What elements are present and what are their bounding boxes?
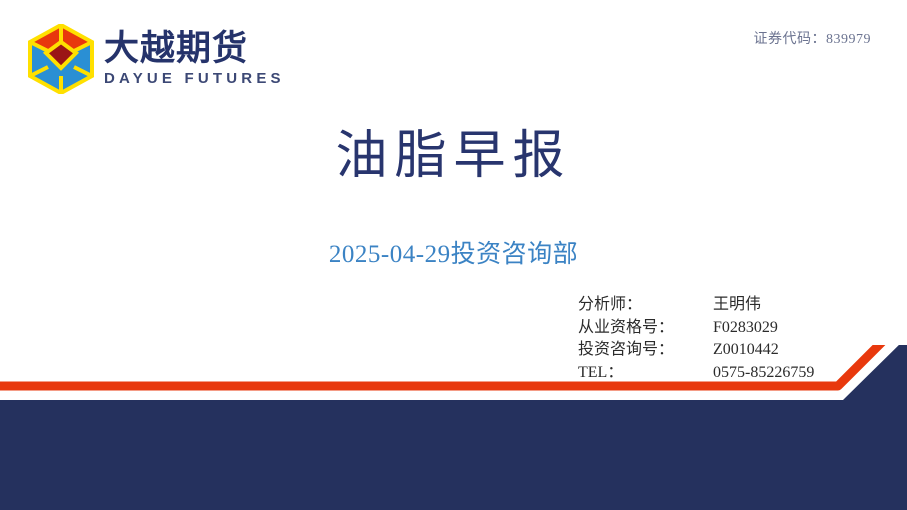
slide-cover: 大越期货 DAYUE FUTURES 证券代码：839979 油脂早报 2025… — [0, 0, 907, 510]
logo-english-name: DAYUE FUTURES — [104, 70, 285, 87]
analyst-name-label: 分析师： — [578, 294, 713, 317]
company-logo: 大越期货 DAYUE FUTURES — [28, 24, 285, 94]
page-subtitle: 2025-04-29投资咨询部 — [0, 240, 907, 270]
logo-wordmark: 大越期货 DAYUE FUTURES — [104, 31, 285, 87]
qualification-number-label: 从业资格号： — [578, 317, 713, 340]
footer-navy-band — [0, 345, 907, 510]
page-title: 油脂早报 — [0, 128, 907, 186]
footer-decoration — [0, 345, 907, 510]
footer-orange-accent — [0, 345, 907, 386]
analyst-name-value: 王明伟 — [713, 294, 814, 317]
analyst-info-row: 从业资格号： F0283029 — [578, 317, 814, 340]
dayue-cube-logo-icon — [28, 24, 94, 94]
qualification-number-value: F0283029 — [713, 317, 814, 340]
security-code: 证券代码：839979 — [754, 28, 872, 48]
logo-chinese-name: 大越期货 — [104, 31, 285, 68]
analyst-info-row: 分析师： 王明伟 — [578, 294, 814, 317]
